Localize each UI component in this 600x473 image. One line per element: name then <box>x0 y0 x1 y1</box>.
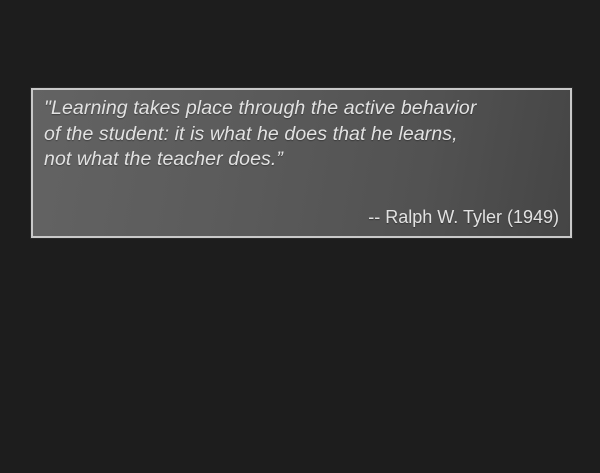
quote-box: "Learning takes place through the active… <box>31 88 572 238</box>
quote-text: "Learning takes place through the active… <box>44 96 560 173</box>
quote-box-inner: "Learning takes place through the active… <box>33 90 570 236</box>
quote-line: of the student: it is what he does that … <box>44 122 560 148</box>
quote-line: not what the teacher does.” <box>44 147 560 173</box>
quote-line: "Learning takes place through the active… <box>44 96 560 122</box>
quote-attribution: -- Ralph W. Tyler (1949) <box>368 206 559 228</box>
slide-canvas: "Learning takes place through the active… <box>0 0 600 473</box>
